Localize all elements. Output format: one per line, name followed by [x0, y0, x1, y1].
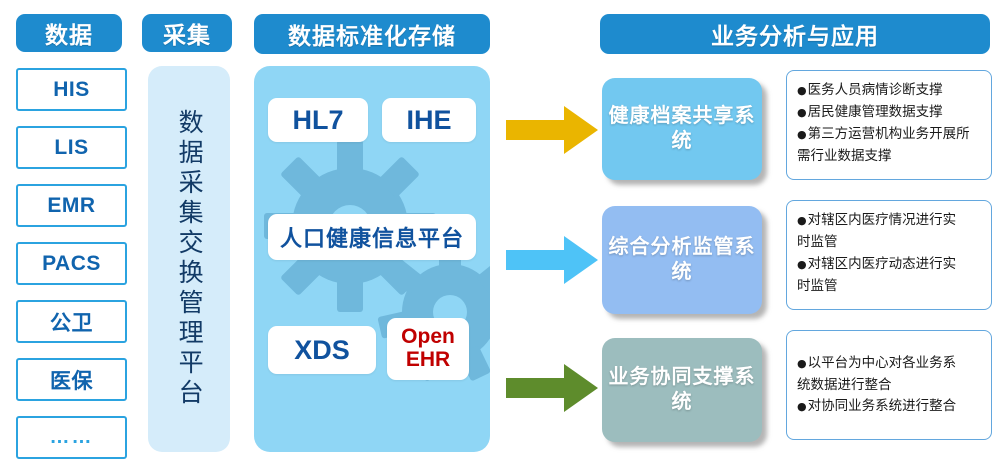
note-analysis: 对辖区内医疗情况进行实时监管对辖区内医疗动态进行实时监管 — [786, 200, 992, 310]
header-business-analysis: 业务分析与应用 — [600, 14, 990, 54]
standard-box-xds: XDS — [268, 326, 376, 374]
arrow-collaboration-icon — [506, 362, 598, 414]
standard-box-population-health-platform: 人口健康信息平台 — [268, 214, 476, 260]
arrow-health-record-icon — [506, 104, 598, 156]
note-line: 医务人员病情诊断支撑 — [797, 80, 983, 102]
note-line: 时监管 — [797, 276, 983, 298]
source-box-medical-insurance: 医保 — [16, 358, 127, 401]
note-line: 以平台为中心对各业务系 — [797, 353, 983, 375]
note-line: 时监管 — [797, 232, 983, 254]
arrow-analysis-icon — [506, 234, 598, 286]
openehr-line-2: EHR — [406, 349, 450, 372]
system-box-health-record-sharing: 健康档案共享系统 — [602, 78, 762, 180]
collection-platform-label: 数据采集交换管理平台 — [176, 109, 202, 409]
source-box-pacs: PACS — [16, 242, 127, 285]
standard-box-openehr: Open EHR — [387, 318, 469, 380]
note-line: 需行业数据支撑 — [797, 146, 983, 168]
header-standardized-storage: 数据标准化存储 — [254, 14, 490, 54]
note-health-record: 医务人员病情诊断支撑居民健康管理数据支撑第三方运营机构业务开展所需行业数据支撑 — [786, 70, 992, 180]
openehr-line-1: Open — [401, 326, 455, 349]
standardized-storage-panel: HL7 IHE 人口健康信息平台 XDS Open EHR — [254, 66, 490, 452]
header-collect: 采集 — [142, 14, 232, 52]
note-line: 第三方运营机构业务开展所 — [797, 124, 983, 146]
note-line: 对辖区内医疗情况进行实 — [797, 210, 983, 232]
source-box-his: HIS — [16, 68, 127, 111]
source-box-more: …… — [16, 416, 127, 459]
source-box-lis: LIS — [16, 126, 127, 169]
note-line: 对协同业务系统进行整合 — [797, 396, 983, 418]
source-box-emr: EMR — [16, 184, 127, 227]
standard-box-ihe: IHE — [382, 98, 476, 142]
header-data: 数据 — [16, 14, 122, 52]
note-line: 对辖区内医疗动态进行实 — [797, 254, 983, 276]
source-box-public-health: 公卫 — [16, 300, 127, 343]
system-box-business-collaboration: 业务协同支撑系统 — [602, 338, 762, 442]
collection-platform-panel: 数据采集交换管理平台 — [148, 66, 230, 452]
diagram-canvas: 数据 采集 数据标准化存储 业务分析与应用 HIS LIS EMR PACS 公… — [0, 0, 1004, 468]
note-line: 居民健康管理数据支撑 — [797, 102, 983, 124]
standard-box-hl7: HL7 — [268, 98, 368, 142]
system-box-comprehensive-analysis: 综合分析监管系统 — [602, 206, 762, 314]
note-collaboration: 以平台为中心对各业务系统数据进行整合对协同业务系统进行整合 — [786, 330, 992, 440]
note-line: 统数据进行整合 — [797, 375, 983, 397]
